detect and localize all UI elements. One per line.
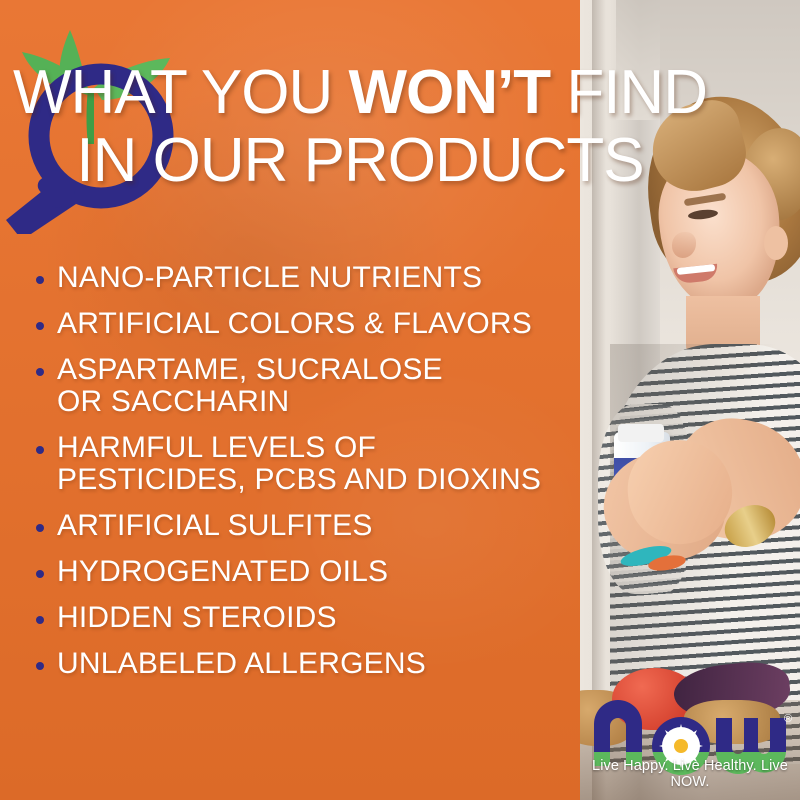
list-item-text: HYDROGENATED OILS [57,556,388,588]
list-item-text: HARMFUL LEVELS OF PESTICIDES, PCBS AND D… [57,432,541,496]
bullet-dot-icon [36,662,44,670]
list-item: ARTIFICIAL SULFITES [36,510,576,542]
page-title: WHAT YOU WON’T FIND IN OUR PRODUCTS [0,62,720,192]
list-item-line: HYDROGENATED OILS [57,556,388,588]
bullet-dot-icon [36,322,44,330]
list-item-line: PESTICIDES, PCBS AND DIOXINS [57,464,541,496]
bullet-dot-icon [36,446,44,454]
list-item: ARTIFICIAL COLORS & FLAVORS [36,308,576,340]
headline-emphasis: WON’T [348,58,550,127]
list-item-line: HARMFUL LEVELS OF [57,432,541,464]
bullet-dot-icon [36,616,44,624]
list-item-line: ARTIFICIAL SULFITES [57,510,373,542]
list-item: NANO-PARTICLE NUTRIENTS [36,262,576,294]
bullet-dot-icon [36,570,44,578]
list-item: HIDDEN STEROIDS [36,602,576,634]
woman-ear [764,226,788,260]
list-item-text: ASPARTAME, SUCRALOSE OR SACCHARIN [57,354,443,418]
bullet-dot-icon [36,276,44,284]
list-item-text: ARTIFICIAL SULFITES [57,510,373,542]
list-item: UNLABELED ALLERGENS [36,648,576,680]
list-item: ASPARTAME, SUCRALOSE OR SACCHARIN [36,354,576,418]
headline-part-1: WHAT YOU [13,58,348,127]
list-item-line: ARTIFICIAL COLORS & FLAVORS [57,308,532,340]
list-item-line: UNLABELED ALLERGENS [57,648,426,680]
bullet-dot-icon [36,368,44,376]
headline-line-2: IN OUR PRODUCTS [0,130,720,192]
list-item: HARMFUL LEVELS OF PESTICIDES, PCBS AND D… [36,432,576,496]
list-item-text: HIDDEN STEROIDS [57,602,337,634]
brand-tagline: Live Happy. Live Healthy. Live NOW. [584,758,796,790]
promo-graphic: WHAT YOU WON’T FIND IN OUR PRODUCTS NANO… [0,0,800,800]
headline-part-2: FIND [550,58,707,127]
list-item-line: NANO-PARTICLE NUTRIENTS [57,262,482,294]
list-item: HYDROGENATED OILS [36,556,576,588]
list-item-text: NANO-PARTICLE NUTRIENTS [57,262,482,294]
registered-mark: ® [784,713,792,725]
list-item-text: ARTIFICIAL COLORS & FLAVORS [57,308,532,340]
bottle-cap [618,424,664,442]
list-item-line: HIDDEN STEROIDS [57,602,337,634]
list-item-text: UNLABELED ALLERGENS [57,648,426,680]
exclusion-list: NANO-PARTICLE NUTRIENTS ARTIFICIAL COLOR… [36,262,576,694]
bullet-dot-icon [36,524,44,532]
list-item-line: OR SACCHARIN [57,386,443,418]
headline-line-1: WHAT YOU WON’T FIND [13,58,707,127]
list-item-line: ASPARTAME, SUCRALOSE [57,354,443,386]
